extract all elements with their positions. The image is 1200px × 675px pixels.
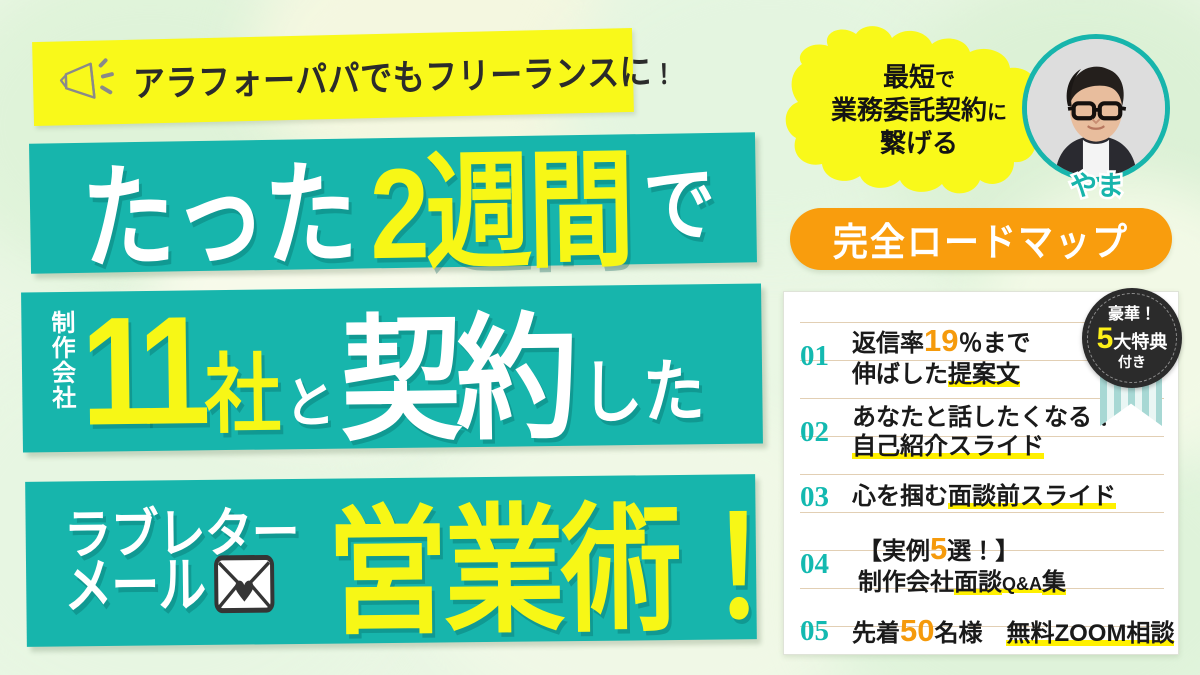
list-item-text: 心を掴む: [852, 483, 948, 510]
list-item-number: 05: [800, 615, 842, 648]
list-item-body: 返信率19％まで伸ばした提案文: [852, 322, 1030, 389]
list-item-text: ％: [958, 330, 982, 357]
bonus-badge-circle: 豪華！ 5大特典 付き: [1082, 288, 1182, 388]
list-item-text: 5: [930, 531, 947, 566]
list-item-line: 心を掴む面談前スライド: [852, 482, 1116, 511]
headline-row1-lead: たった: [80, 120, 356, 291]
headline-row2-particle: と: [284, 359, 335, 439]
list-item-number: 03: [800, 481, 842, 514]
list-item-number: 02: [800, 416, 842, 449]
headline-row2-tail: した: [580, 335, 705, 437]
bonus-badge-line3: 付き: [1118, 355, 1146, 370]
list-item[interactable]: 04【実例5選！】制作会社面談Q&A集: [800, 524, 1164, 604]
list-item-text: 面談前スライド: [948, 483, 1116, 510]
list-item-body: 【実例5選！】制作会社面談Q&A集: [852, 530, 1066, 597]
list-item-line: あなたと話したくなる！: [852, 403, 1116, 432]
roadmap-pill: 完全ロードマップ: [790, 208, 1172, 270]
headline-row1-tail: で: [642, 136, 716, 258]
headline-bar-3: ラブレター メール 営業術！: [25, 474, 757, 647]
list-item-text: まで: [982, 330, 1030, 357]
list-item-text: 自己紹介スライド: [852, 433, 1044, 460]
roadmap-pill-label: 完全ロードマップ: [833, 211, 1129, 267]
list-item-number: 01: [800, 340, 842, 373]
list-item[interactable]: 05先着50名様 無料ZOOM相談: [800, 604, 1164, 655]
headline-row2-keyword: 契約: [339, 268, 573, 467]
bonus-badge: 豪華！ 5大特典 付き: [1078, 288, 1186, 428]
bonus-badge-line2: 5大特典: [1097, 323, 1168, 354]
list-item-line: 先着50名様 無料ZOOM相談: [852, 612, 1174, 650]
list-item-text: 【実例: [858, 538, 930, 565]
avatar: やま: [1022, 34, 1172, 199]
list-item-line: 自己紹介スライド: [852, 432, 1116, 461]
list-item-line: 【実例5選！】: [858, 530, 1066, 568]
list-item-text: 無料ZOOM相談: [1006, 620, 1174, 647]
scribble-text: 最短で 業務委託契約に 繋げる: [784, 20, 1054, 200]
tagline-text: アラフォーパパでもフリーランスに！: [132, 43, 677, 107]
list-item-text: 19: [924, 323, 958, 358]
headline-bar-1: たった 2週間 で: [29, 132, 757, 273]
list-item-text: 50: [900, 613, 934, 648]
list-item[interactable]: 03心を掴む面談前スライド: [800, 470, 1164, 524]
list-item-text: 面談: [954, 569, 1002, 596]
list-item-body: 先着50名様 無料ZOOM相談: [852, 612, 1174, 650]
list-item-text: 名様: [934, 620, 1006, 647]
megaphone-icon: [56, 57, 119, 109]
bonus-badge-line1: 豪華！: [1108, 307, 1156, 324]
list-item-text: あなたと話したくなる！: [852, 404, 1116, 431]
headline-row1-highlight: 2週間: [368, 107, 631, 296]
list-item-line: 制作会社面談Q&A集: [858, 568, 1066, 597]
list-item-text: 選！】: [947, 538, 1019, 565]
avatar-name: やま: [1022, 164, 1172, 203]
headline-bar-2: 制作会社 11 社 と 契約 した: [21, 283, 763, 452]
list-item-text: 伸ばした: [852, 361, 948, 388]
list-item-text: 先着: [852, 620, 900, 647]
headline-row3-line2: メール: [64, 558, 206, 617]
envelope-heart-icon: [213, 551, 276, 622]
list-item-line: 返信率19％まで: [852, 322, 1030, 360]
headline-row2-counter: 社: [204, 324, 282, 450]
avatar-photo: [1022, 34, 1170, 182]
list-item-body: 心を掴む面談前スライド: [852, 482, 1116, 511]
tagline-ribbon: アラフォーパパでもフリーランスに！: [32, 28, 634, 126]
list-item-text: 制作会社: [858, 569, 954, 596]
list-item-line: 伸ばした提案文: [852, 360, 1030, 389]
headline-row3-left: ラブレター メール: [63, 511, 299, 616]
list-item-text: 返信率: [852, 330, 924, 357]
list-item-body: あなたと話したくなる！自己紹介スライド: [852, 403, 1116, 462]
list-item-number: 04: [800, 548, 842, 581]
headline-row2-vertical-label: 制作会社: [47, 310, 73, 438]
list-item-text: 提案文: [948, 361, 1020, 388]
list-item-text: Q&A: [1002, 574, 1042, 594]
list-item-text: 集: [1042, 569, 1066, 596]
headline-row3-keyword: 営業術！: [326, 456, 797, 661]
highlight-scribble: 最短で 業務委託契約に 繋げる: [784, 20, 1054, 200]
headline-row2-number: 11: [81, 281, 205, 461]
person-portrait-icon: [1027, 39, 1165, 177]
